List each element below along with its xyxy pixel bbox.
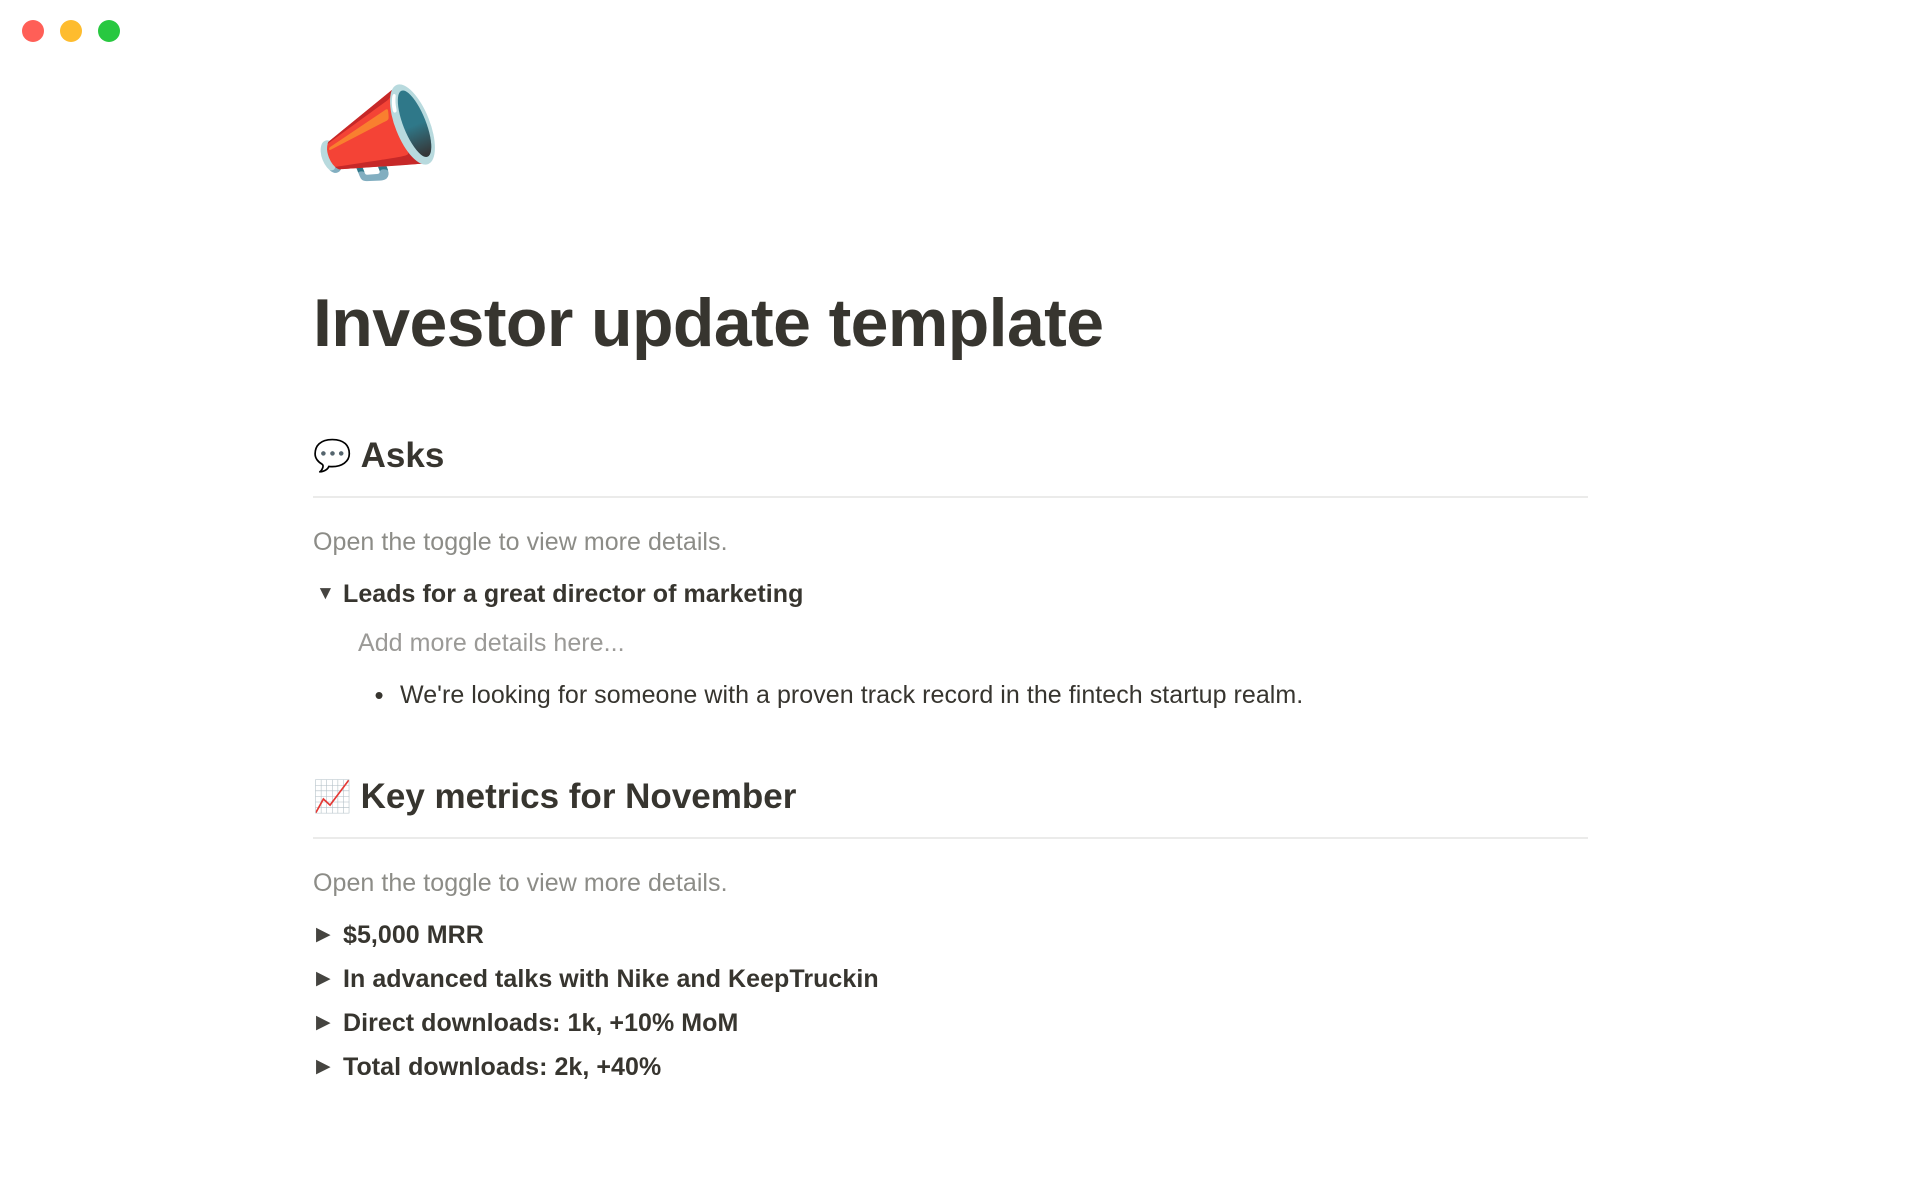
toggle-label[interactable]: $5,000 MRR (343, 918, 484, 952)
megaphone-emoji[interactable]: 📣 (313, 84, 443, 188)
toggle-label[interactable]: Direct downloads: 1k, +10% MoM (343, 1006, 738, 1040)
section-divider (313, 496, 1588, 498)
speech-balloon-icon: 💬 (313, 440, 352, 471)
section-heading-key-metrics[interactable]: 📈 Key metrics for November (313, 775, 1588, 825)
bullet-list: • We're looking for someone with a prove… (358, 673, 1588, 717)
bullet-text[interactable]: We're looking for someone with a proven … (400, 677, 1303, 713)
toggle-row-total-downloads[interactable]: ▶ Total downloads: 2k, +40% (313, 1045, 1588, 1089)
toggle-row-advanced-talks[interactable]: ▶ In advanced talks with Nike and KeepTr… (313, 957, 1588, 1001)
section-key-metrics: 📈 Key metrics for November Open the togg… (313, 775, 1588, 1089)
document-page: 📣 Investor update template 💬 Asks Open t… (0, 0, 1920, 1200)
section-hint-asks: Open the toggle to view more details. (313, 524, 1588, 560)
toggle-row-expanded[interactable]: ▼ Leads for a great director of marketin… (313, 572, 1588, 616)
toggle-list-asks: ▼ Leads for a great director of marketin… (313, 572, 1588, 717)
toggle-list-key-metrics: ▶ $5,000 MRR ▶ In advanced talks with Ni… (313, 913, 1588, 1089)
toggle-row-mrr[interactable]: ▶ $5,000 MRR (313, 913, 1588, 957)
chevron-down-icon[interactable]: ▼ (313, 577, 343, 611)
section-hint-key-metrics: Open the toggle to view more details. (313, 865, 1588, 901)
toggle-label[interactable]: In advanced talks with Nike and KeepTruc… (343, 962, 879, 996)
chevron-right-icon[interactable]: ▶ (313, 918, 343, 952)
bullet-icon: • (358, 677, 400, 713)
chevron-right-icon[interactable]: ▶ (313, 1006, 343, 1040)
toggle-children: Add more details here... • We're looking… (358, 619, 1588, 717)
section-asks: 💬 Asks Open the toggle to view more deta… (313, 434, 1588, 717)
chevron-right-icon[interactable]: ▶ (313, 1050, 343, 1084)
toggle-placeholder-text[interactable]: Add more details here... (358, 619, 1588, 667)
toggle-label[interactable]: Leads for a great director of marketing (343, 577, 803, 611)
toggle-row-direct-downloads[interactable]: ▶ Direct downloads: 1k, +10% MoM (313, 1001, 1588, 1045)
section-divider (313, 837, 1588, 839)
toggle-label[interactable]: Total downloads: 2k, +40% (343, 1050, 661, 1084)
chevron-right-icon[interactable]: ▶ (313, 962, 343, 996)
page-title[interactable]: Investor update template (313, 288, 1103, 359)
list-item[interactable]: • We're looking for someone with a prove… (358, 673, 1588, 717)
section-heading-label: Asks (361, 434, 445, 478)
section-heading-asks[interactable]: 💬 Asks (313, 434, 1588, 484)
section-heading-label: Key metrics for November (361, 775, 797, 819)
chart-increasing-icon: 📈 (313, 781, 352, 812)
